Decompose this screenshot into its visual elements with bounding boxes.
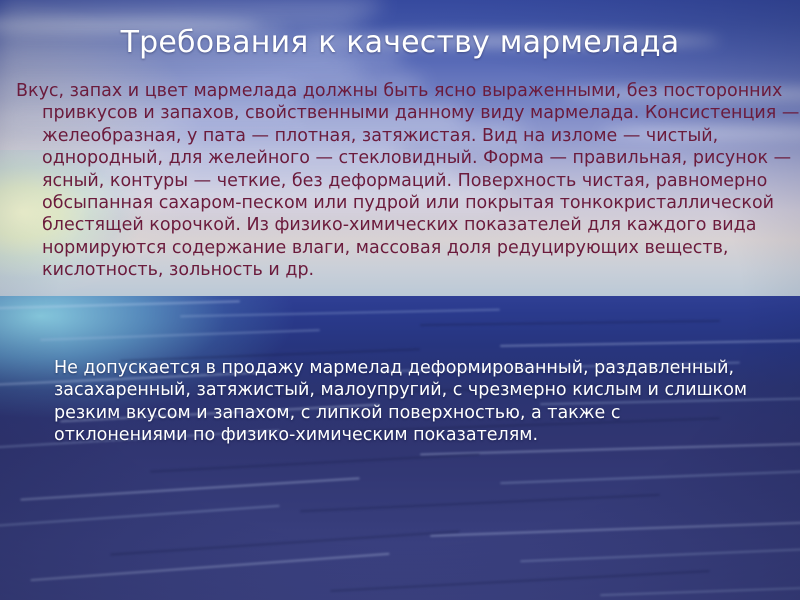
note-paragraph: Не допускается в продажу мармелад деформ… xyxy=(54,357,754,447)
main-paragraph: Вкус, запах и цвет мармелада должны быть… xyxy=(16,80,800,282)
slide-content: Требования к качеству мармелада Вкус, за… xyxy=(0,0,800,600)
slide-title: Требования к качеству мармелада xyxy=(0,24,800,62)
slide: Требования к качеству мармелада Вкус, за… xyxy=(0,0,800,600)
